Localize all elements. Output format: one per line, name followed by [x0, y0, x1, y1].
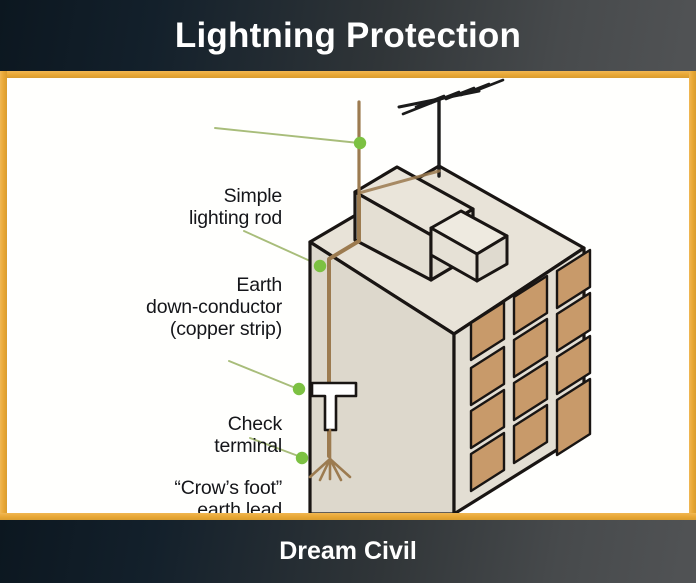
- slide-root: Lightning Protection: [0, 0, 696, 583]
- callout-label-earth-down-conductor: Earth down-conductor (copper strip): [42, 275, 282, 340]
- antenna-element: [475, 80, 503, 91]
- left-accent-rail: [0, 71, 7, 520]
- tv-antenna-icon: [399, 80, 503, 176]
- antenna-element: [431, 92, 459, 103]
- header-accent-bar: [0, 71, 696, 78]
- leader-dot-crows-foot: [296, 452, 308, 464]
- diagram-canvas: Simple lighting rod Earth down-conductor…: [7, 78, 689, 513]
- leader-dot-check-terminal: [293, 383, 305, 395]
- leader-dot-earth-down-conductor: [314, 260, 326, 272]
- antenna-element: [461, 84, 489, 95]
- leader-dot-simple-lighting-rod: [354, 137, 366, 149]
- callout-label-simple-lighting-rod: Simple lighting rod: [67, 186, 282, 230]
- footer-accent-bar: [0, 513, 696, 520]
- footer-brand: Dream Civil: [0, 520, 696, 583]
- leader-line-earth-down-conductor: [244, 231, 319, 265]
- leader-line-check-terminal: [229, 361, 298, 389]
- right-accent-rail: [689, 71, 696, 520]
- callout-label-check-terminal: Check terminal: [87, 414, 282, 458]
- leader-line-simple-lighting-rod: [215, 128, 359, 143]
- page-title: Lightning Protection: [0, 0, 696, 71]
